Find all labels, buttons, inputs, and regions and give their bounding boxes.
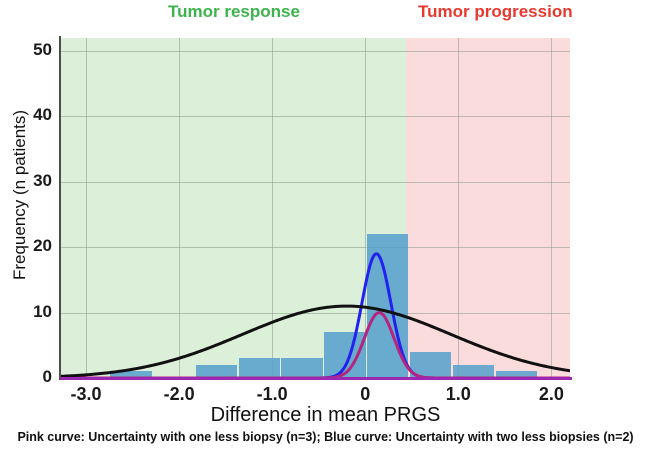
x-tick-label: 1.0 [428,384,488,405]
region-label-tumor-progression: Tumor progression [418,2,573,22]
plot-area [60,38,570,378]
density-curve [60,254,570,378]
x-tick-label: -1.0 [242,384,302,405]
x-axis-label: Difference in mean PRGS [0,404,651,427]
y-axis-label: Frequency (n patients) [10,35,30,355]
x-axis-line [60,377,572,380]
density-curves [60,38,570,378]
density-curve [60,306,570,376]
x-tick-label: 0 [335,384,395,405]
region-label-tumor-response: Tumor response [168,2,300,22]
y-axis-line [59,36,61,380]
x-tick-label: -2.0 [149,384,209,405]
y-tick-label: 0 [8,367,52,387]
figure-caption: Pink curve: Uncertainty with one less bi… [0,430,651,444]
x-tick-label: 2.0 [521,384,581,405]
chart-figure: Tumor response Tumor progression 0102030… [0,0,651,450]
x-tick-label: -3.0 [56,384,116,405]
